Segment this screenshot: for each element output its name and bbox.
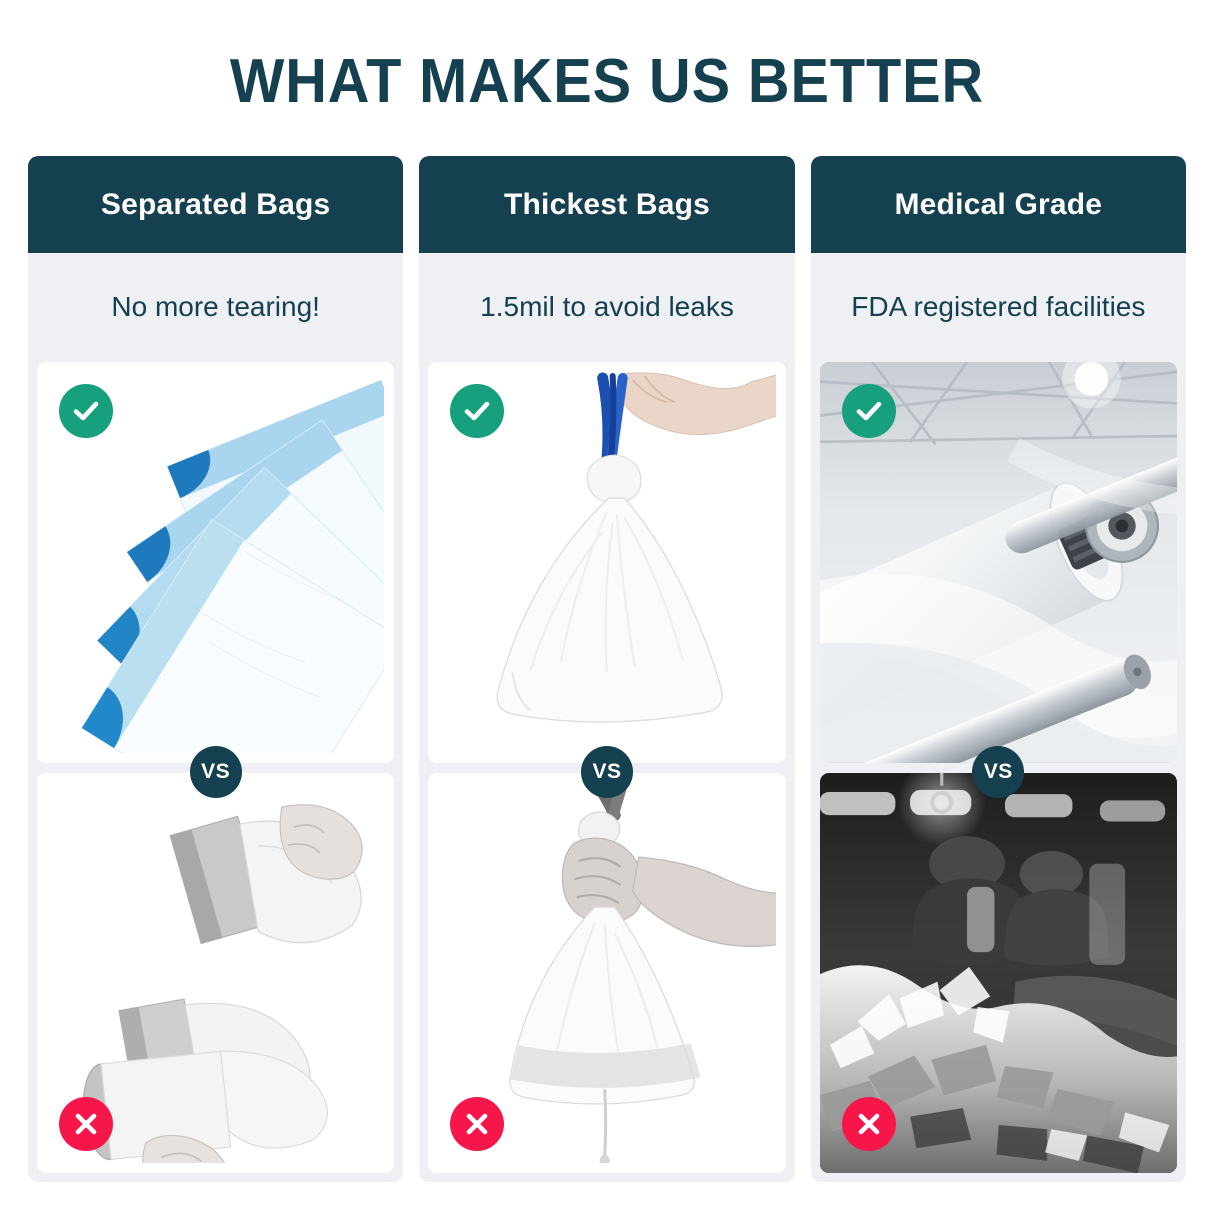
good-panel-separated-bags	[37, 362, 394, 763]
vs-badge: VS	[972, 746, 1024, 798]
card-subtitle-medical-grade: FDA registered facilities	[811, 253, 1186, 362]
vs-badge: VS	[190, 746, 242, 798]
card-header-separated-bags: Separated Bags	[28, 156, 403, 253]
cross-icon	[450, 1097, 504, 1151]
comparison-columns: Separated Bags No more tearing!	[28, 156, 1186, 1182]
good-panel-thickest-bags	[428, 362, 785, 763]
panel-stack-separated-bags: VS	[28, 362, 403, 1182]
check-icon	[842, 384, 896, 438]
card-header-medical-grade: Medical Grade	[811, 156, 1186, 253]
card-header-thickest-bags: Thickest Bags	[419, 156, 794, 253]
bad-panel-medical-grade	[820, 773, 1177, 1174]
card-subtitle-separated-bags: No more tearing!	[28, 253, 403, 362]
vs-badge: VS	[581, 746, 633, 798]
comparison-card-thickest-bags: Thickest Bags 1.5mil to avoid leaks	[419, 156, 794, 1182]
panel-stack-thickest-bags: VS	[419, 362, 794, 1182]
bad-panel-separated-bags	[37, 773, 394, 1174]
page-title: WHAT MAKES US BETTER	[42, 46, 1171, 117]
good-panel-medical-grade	[820, 362, 1177, 763]
bad-panel-thickest-bags	[428, 773, 785, 1174]
comparison-card-medical-grade: Medical Grade FDA registered facilities	[811, 156, 1186, 1182]
panel-stack-medical-grade: VS	[811, 362, 1186, 1182]
comparison-infographic: WHAT MAKES US BETTER Separated Bags No m…	[0, 0, 1214, 1214]
check-icon	[450, 384, 504, 438]
cross-icon	[842, 1097, 896, 1151]
comparison-card-separated-bags: Separated Bags No more tearing!	[28, 156, 403, 1182]
card-subtitle-thickest-bags: 1.5mil to avoid leaks	[419, 253, 794, 362]
cross-icon	[59, 1097, 113, 1151]
check-icon	[59, 384, 113, 438]
